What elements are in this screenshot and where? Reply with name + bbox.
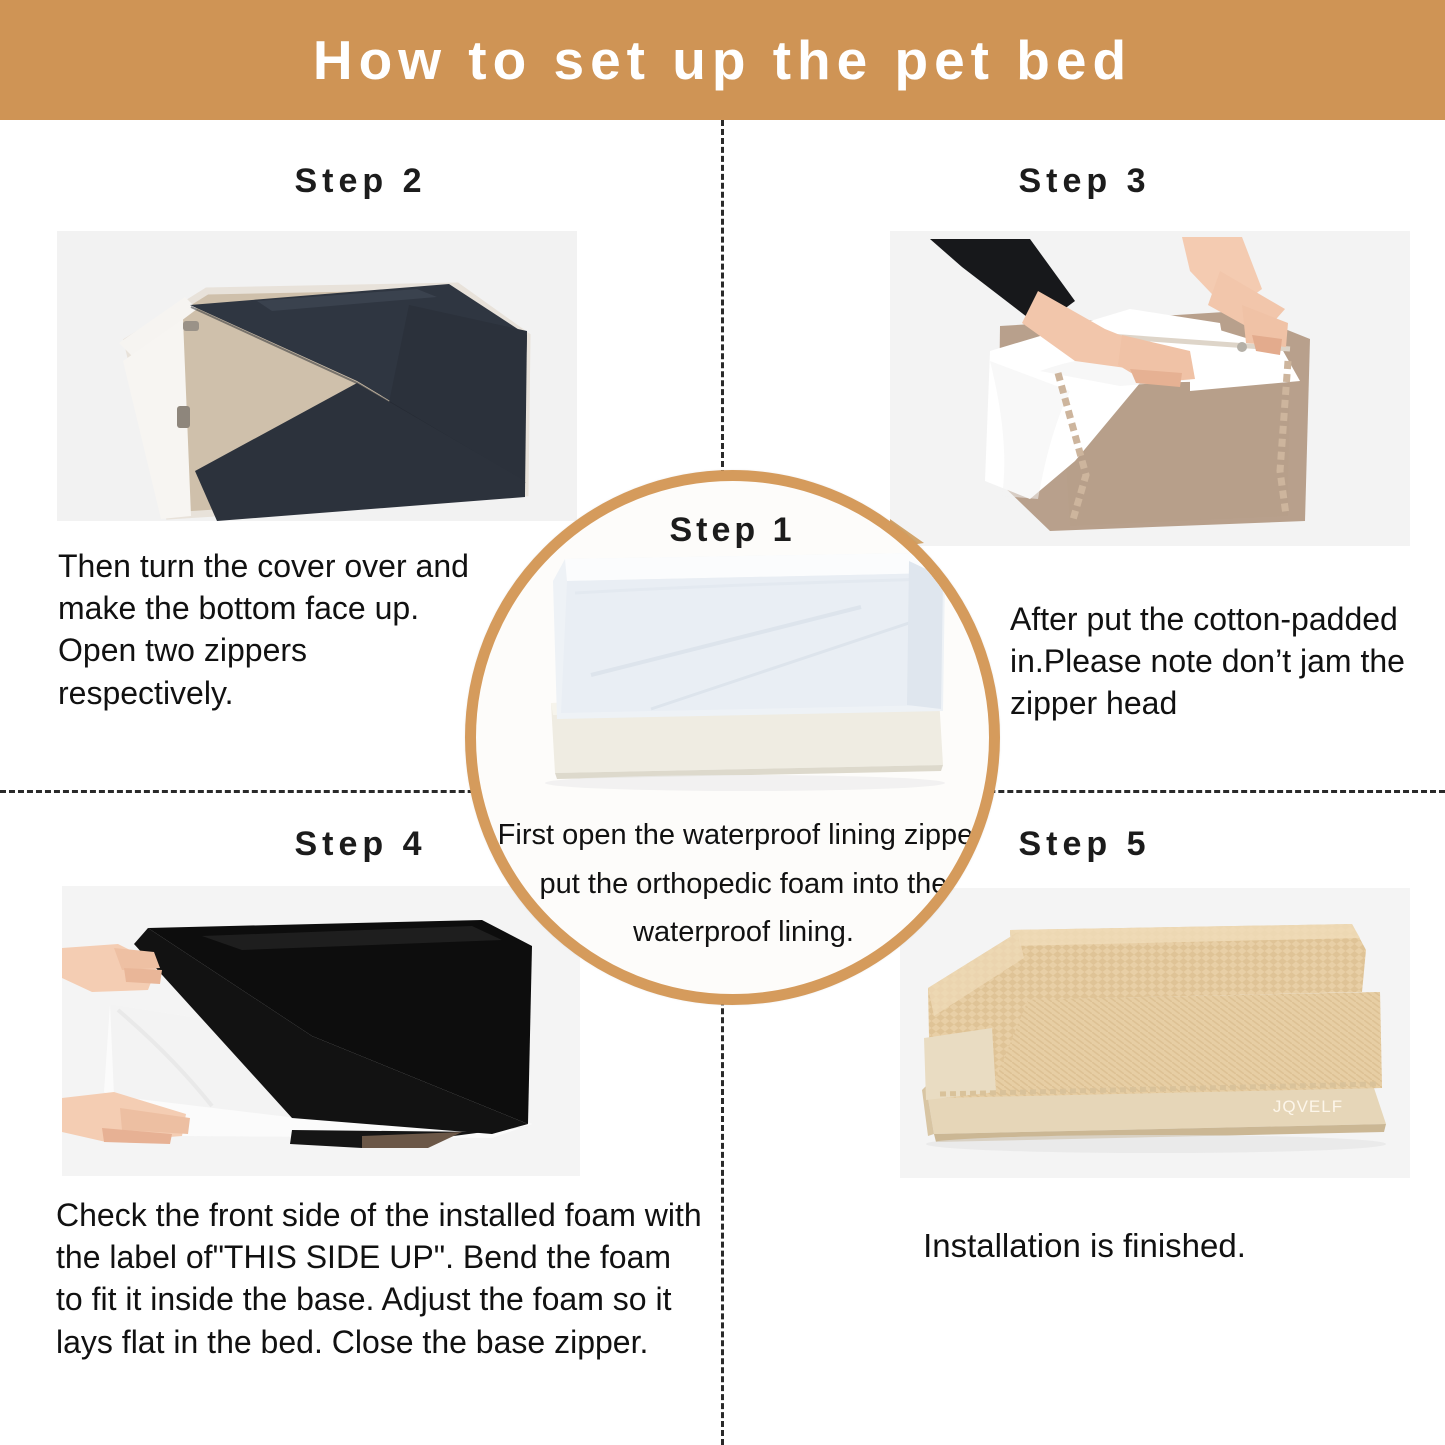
brand-label: JQVELF [1273,1097,1343,1116]
page-title: How to set up the pet bed [313,28,1132,92]
step-2-photo [57,231,577,521]
panel-step-1: Step 1 First open the waterproof lining … [465,470,1000,1005]
step-4-text: Check the front side of the installed fo… [56,1194,706,1363]
step-5-text: Installation is finished. [724,1224,1445,1268]
step-2-heading: Step 2 [0,120,721,201]
step-2-text: Then turn the cover over and make the bo… [58,545,478,714]
step-3-text: After put the cotton-padded in.Please no… [1010,598,1410,725]
step-1-photo [531,533,956,798]
step-3-heading: Step 3 [724,120,1445,201]
step-1-heading: Step 1 [476,511,989,550]
step-1-text: First open the waterproof lining zipper,… [496,811,991,957]
page-header: How to set up the pet bed [0,0,1445,120]
step-3-photo [890,231,1410,546]
